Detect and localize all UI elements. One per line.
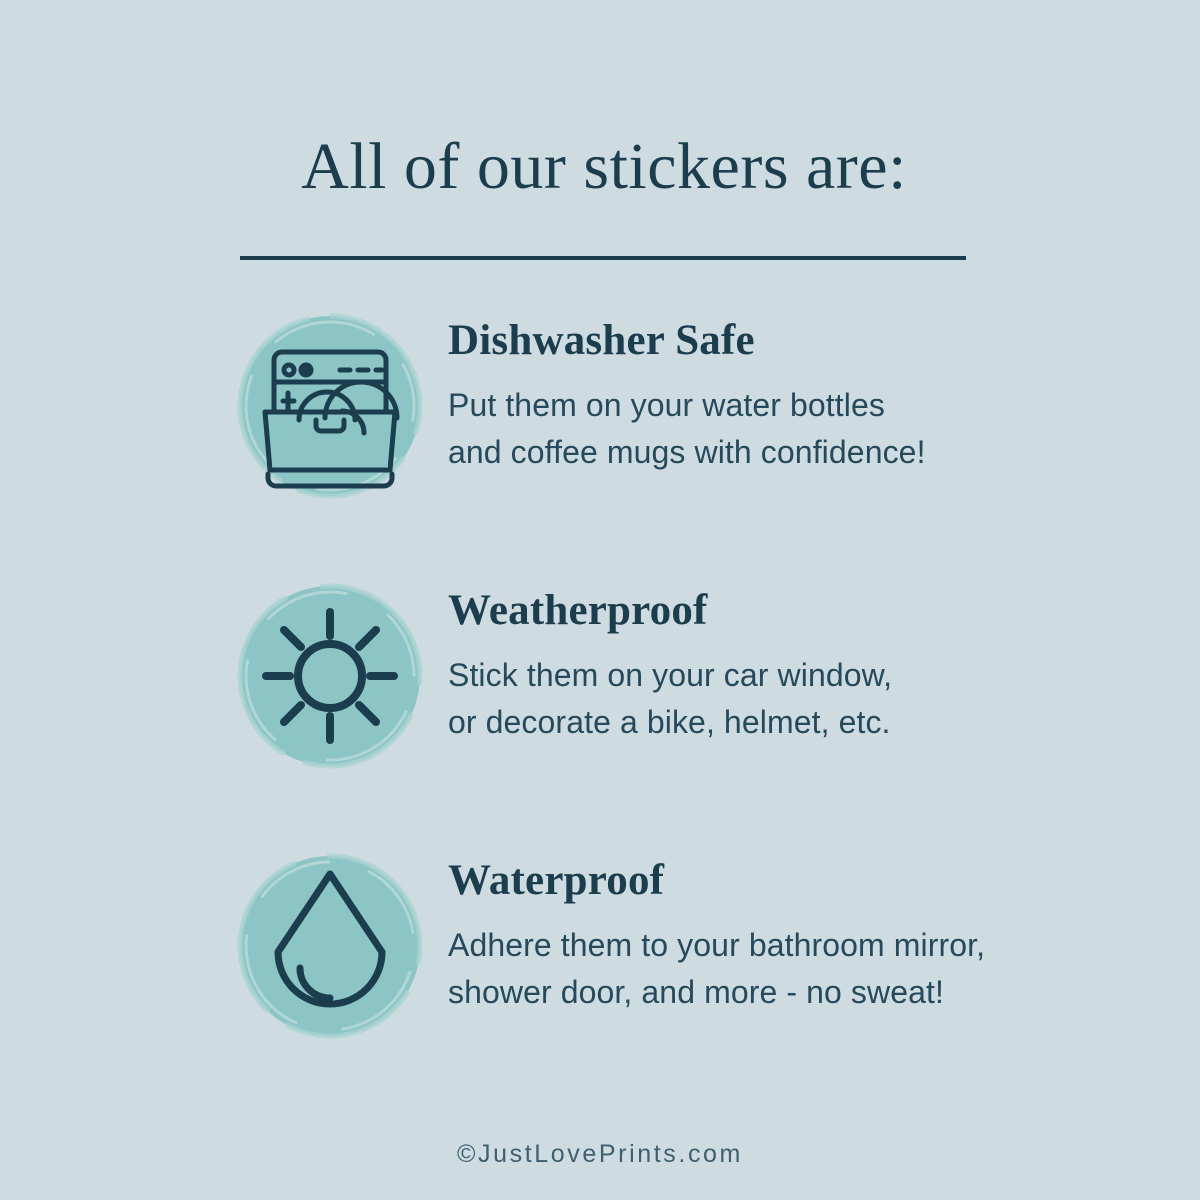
sun-icon — [232, 578, 428, 774]
poster-canvas: All of our stickers are: — [0, 0, 1200, 1200]
feature-heading: Dishwasher Safe — [448, 316, 926, 366]
feature-text-dishwasher: Dishwasher Safe Put them on your water b… — [448, 308, 926, 476]
page-title: All of our stickers are: — [240, 128, 968, 206]
feature-body-line: shower door, and more - no sweat! — [448, 969, 985, 1016]
title-divider — [240, 256, 966, 260]
dishwasher-icon — [232, 308, 428, 504]
feature-body-line: or decorate a bike, helmet, etc. — [448, 699, 892, 746]
feature-heading: Waterproof — [448, 856, 985, 906]
water-drop-icon — [232, 848, 428, 1044]
feature-row-weatherproof: Weatherproof Stick them on your car wind… — [232, 578, 892, 774]
feature-body-line: Put them on your water bottles — [448, 382, 926, 429]
feature-body-line: Stick them on your car window, — [448, 652, 892, 699]
feature-row-waterproof: Waterproof Adhere them to your bathroom … — [232, 848, 985, 1044]
feature-text-waterproof: Waterproof Adhere them to your bathroom … — [448, 848, 985, 1016]
feature-heading: Weatherproof — [448, 586, 892, 636]
footer-credit: ©JustLovePrints.com — [0, 1140, 1200, 1169]
feature-row-dishwasher: Dishwasher Safe Put them on your water b… — [232, 308, 926, 504]
feature-body-line: and coffee mugs with confidence! — [448, 429, 926, 476]
feature-text-weatherproof: Weatherproof Stick them on your car wind… — [448, 578, 892, 746]
feature-body-line: Adhere them to your bathroom mirror, — [448, 922, 985, 969]
